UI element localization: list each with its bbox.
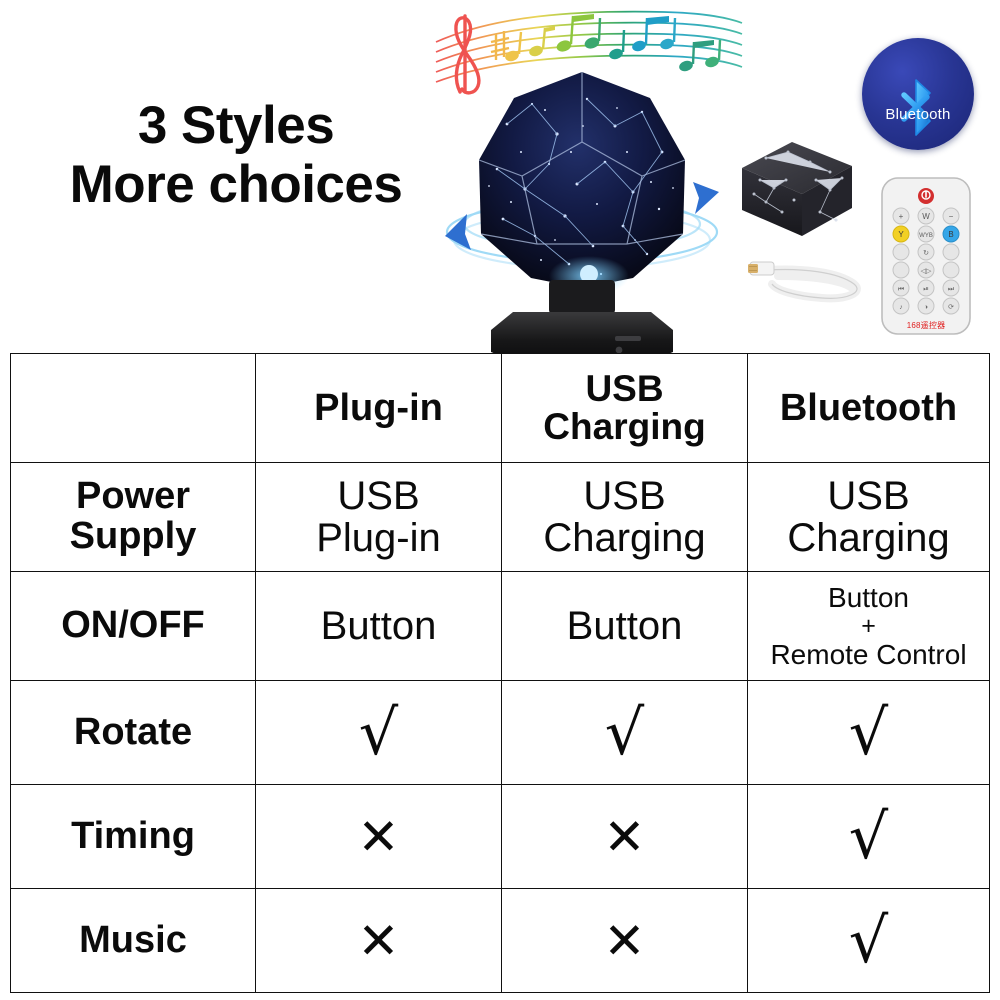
- cell-onoff-usb: Button: [502, 572, 748, 681]
- usb-cable-icon: [742, 246, 872, 318]
- cell-music-plugin: ✕: [256, 889, 502, 993]
- svg-text:+: +: [899, 212, 904, 221]
- svg-text:◑: ◑: [924, 304, 928, 311]
- cell-timing-bluetooth: √: [748, 785, 990, 889]
- row-label-rotate: Rotate: [11, 681, 256, 785]
- remote-control-icon: + W − WYB Y B ◁▷ ⏮ ⏯ ⏭ ♪ ◑ ⟳ ↻ 168遥控器: [872, 176, 980, 336]
- svg-text:Y: Y: [898, 230, 904, 239]
- svg-text:W: W: [922, 212, 930, 221]
- table-row-music: Music ✕ ✕ √: [11, 889, 990, 993]
- row-label-timing: Timing: [11, 785, 256, 889]
- column-header-usb-charging: USB Charging: [502, 354, 748, 463]
- svg-text:⏯: ⏯: [923, 286, 929, 293]
- svg-text:♪: ♪: [899, 304, 903, 311]
- comparison-table: Plug-in USB Charging Bluetooth Power Sup…: [10, 353, 990, 993]
- cell-onoff-bluetooth: Button + Remote Control: [748, 572, 990, 681]
- table-row-power-supply: Power Supply USB Plug-in USB Charging US…: [11, 463, 990, 572]
- cell-power-supply-bluetooth: USB Charging: [748, 463, 990, 572]
- remote-caption: 168遥控器: [872, 320, 980, 331]
- column-header-plugin: Plug-in: [256, 354, 502, 463]
- table-row-onoff: ON/OFF Button Button Button + Remote Con…: [11, 572, 990, 681]
- cell-power-supply-usb: USB Charging: [502, 463, 748, 572]
- cell-onoff-plugin: Button: [256, 572, 502, 681]
- row-label-onoff: ON/OFF: [11, 572, 256, 681]
- cell-music-usb: ✕: [502, 889, 748, 993]
- cross-icon: ✕: [604, 916, 646, 966]
- bluetooth-badge-label: Bluetooth: [862, 106, 974, 123]
- row-label-music: Music: [11, 889, 256, 993]
- bluetooth-badge: Bluetooth: [862, 38, 974, 150]
- row-label-power-supply: Power Supply: [11, 463, 256, 572]
- svg-text:↻: ↻: [923, 250, 929, 257]
- table-row-timing: Timing ✕ ✕ √: [11, 785, 990, 889]
- cell-rotate-usb: √: [502, 681, 748, 785]
- check-icon: √: [849, 702, 889, 764]
- cross-icon: ✕: [358, 916, 400, 966]
- cell-music-bluetooth: √: [748, 889, 990, 993]
- cell-power-supply-plugin: USB Plug-in: [256, 463, 502, 572]
- table-row-rotate: Rotate √ √ √: [11, 681, 990, 785]
- check-icon: √: [359, 702, 399, 764]
- svg-text:⏭: ⏭: [948, 286, 955, 293]
- svg-text:⏮: ⏮: [898, 286, 904, 293]
- check-icon: √: [849, 806, 889, 868]
- check-icon: √: [849, 910, 889, 972]
- star-projector-lamp-icon: [437, 64, 727, 354]
- headline-line-2: More choices: [36, 155, 436, 214]
- cell-timing-plugin: ✕: [256, 785, 502, 889]
- svg-text:−: −: [949, 212, 954, 221]
- svg-text:⟳: ⟳: [948, 304, 954, 311]
- cross-icon: ✕: [358, 812, 400, 862]
- cell-timing-usb: ✕: [502, 785, 748, 889]
- check-icon: √: [605, 702, 645, 764]
- cell-rotate-bluetooth: √: [748, 681, 990, 785]
- table-corner-cell: [11, 354, 256, 463]
- gift-box-icon: [736, 128, 858, 246]
- svg-text:WYB: WYB: [919, 233, 933, 239]
- svg-text:B: B: [948, 230, 953, 239]
- column-header-bluetooth: Bluetooth: [748, 354, 990, 463]
- hero-banner: 3 Styles More choices: [0, 0, 1000, 353]
- cross-icon: ✕: [604, 812, 646, 862]
- svg-text:◁▷: ◁▷: [921, 268, 932, 275]
- table-header-row: Plug-in USB Charging Bluetooth: [11, 354, 990, 463]
- cell-rotate-plugin: √: [256, 681, 502, 785]
- page-title: 3 Styles More choices: [36, 96, 436, 215]
- headline-line-1: 3 Styles: [138, 96, 334, 155]
